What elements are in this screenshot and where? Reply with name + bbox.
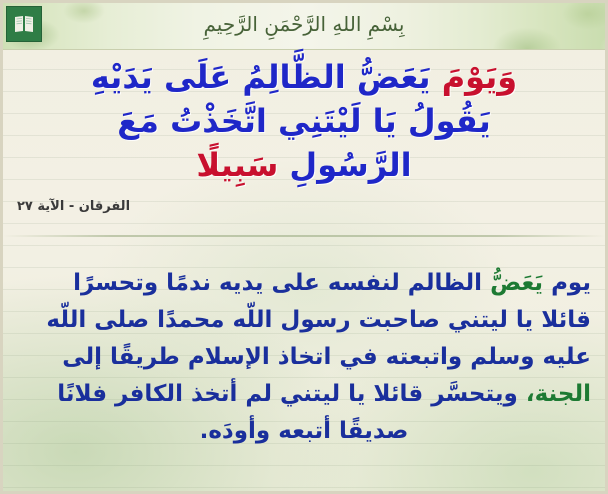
ayah-line-1: وَيَوْمَ يَعَضُّ الظَّالِمُ عَلَى يَدَيْ… [13,55,595,99]
ayah-line3-red: سَبِيلًا [196,146,278,184]
ayah-line1-blue: يَعَضُّ الظَّالِمُ عَلَى يَدَيْهِ [91,58,431,96]
section-divider [3,235,605,237]
book-icon [6,6,42,42]
tafsir-line-2: قائلا يا ليتني صاحبت رسول اللّه محمدًا ص… [17,302,591,339]
ayah-text: وَيَوْمَ يَعَضُّ الظَّالِمُ عَلَى يَدَيْ… [13,55,595,187]
ayah-line-2: يَقُولُ يَا لَيْتَنِي اتَّخَذْتُ مَعَ [13,99,595,143]
ayah-line2-blue: يَقُولُ يَا لَيْتَنِي اتَّخَذْتُ مَعَ [117,102,490,140]
tafsir-body: يوم يَعَضُّ الظالم لنفسه على يديه ندمًا … [17,265,591,450]
ayah-line3-blue: الرَّسُولِ [289,146,411,184]
tafsir-line1-part2: الظالم لنفسه على يديه ندمًا وتحسرًا [73,270,482,296]
quran-verse-card: بِسْمِ اللهِ الرَّحْمَنِ الرَّحِيمِ وَيَ… [0,0,608,494]
ayah-line-3: الرَّسُولِ سَبِيلًا [13,143,595,187]
basmala-text: بِسْمِ اللهِ الرَّحْمَنِ الرَّحِيمِ [3,7,605,41]
tafsir-line-5: صديقًا أتبعه وأودَه. [17,413,591,450]
ayah-line1-red: وَيَوْمَ [442,58,517,96]
tafsir-line-4: الجنة، ويتحسَّر قائلا يا ليتني لم أتخذ ا… [17,376,591,413]
tafsir-line-1: يوم يَعَضُّ الظالم لنفسه على يديه ندمًا … [17,265,591,302]
ayah-reference: الفرقان - الآية ٢٧ [17,199,130,214]
tafsir-line4-highlight: الجنة، [526,381,591,407]
tafsir-line1-part1: يوم [551,270,591,296]
tafsir-line1-highlight: يَعَضُّ [490,270,543,296]
tafsir-line-3: عليه وسلم واتبعته في اتخاذ الإسلام طريقً… [17,339,591,376]
tafsir-line4-rest: ويتحسَّر قائلا يا ليتني لم أتخذ الكافر ف… [57,381,518,407]
